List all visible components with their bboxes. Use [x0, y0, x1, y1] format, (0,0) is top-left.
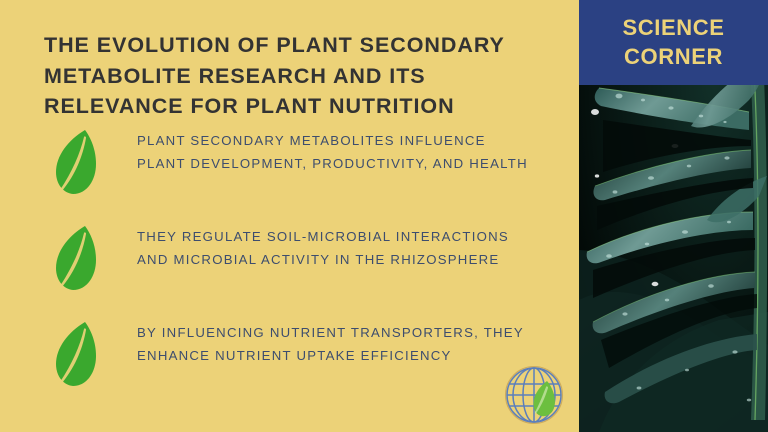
list-item-text: They regulate soil-microbial interaction…: [137, 226, 537, 271]
list-item-text: Plant secondary metabolites influence pl…: [137, 130, 537, 175]
badge-line-2: Corner: [624, 43, 723, 71]
left-content-column: The evolution of plant secondary metabol…: [0, 0, 578, 432]
slide-canvas: The evolution of plant secondary metabol…: [0, 0, 768, 432]
page-title: The evolution of plant secondary metabol…: [44, 30, 564, 122]
bullet-list: Plant secondary metabolites influence pl…: [44, 124, 544, 412]
leaf-icon: [54, 320, 98, 388]
list-item: By influencing nutrient transporters, th…: [44, 316, 544, 412]
globe-leaf-logo: [500, 361, 569, 430]
list-item: Plant secondary metabolites influence pl…: [44, 124, 544, 220]
science-corner-badge: Science Corner: [579, 0, 768, 85]
leaf-icon: [54, 128, 98, 196]
leaf-icon: [54, 224, 98, 292]
list-item: They regulate soil-microbial interaction…: [44, 220, 544, 316]
list-item-text: By influencing nutrient transporters, th…: [137, 322, 537, 367]
badge-line-1: Science: [623, 14, 725, 42]
